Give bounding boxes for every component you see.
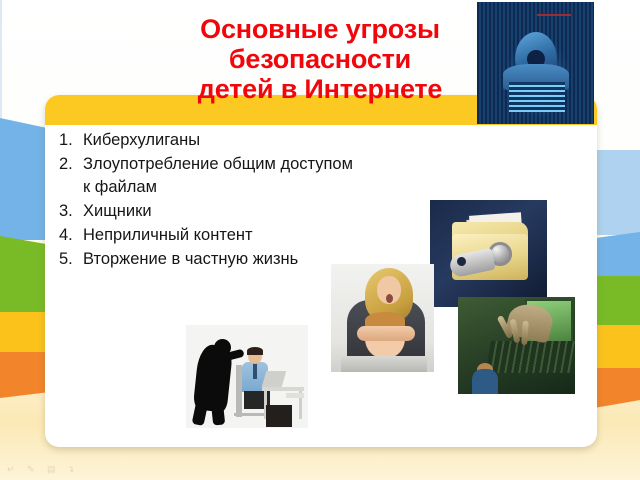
list-item-number: 5. — [59, 248, 81, 271]
office-chair-base — [234, 413, 264, 416]
locked-folder-photo — [430, 200, 547, 307]
laptop-shape — [341, 356, 427, 372]
decor-band-left-blue — [0, 118, 46, 240]
laptop-shape — [262, 371, 287, 387]
list-item-number: 3. — [59, 200, 81, 223]
decor-band-right-green — [594, 276, 640, 326]
list-item-number: 4. — [59, 224, 81, 247]
presentation-slide: Основные угрозы безопасности детей в Инт… — [0, 0, 640, 480]
list-item-label: Неприличный контент — [83, 226, 253, 244]
hacker-in-hoodie-photo — [477, 2, 594, 124]
stool-shape — [286, 393, 304, 398]
hands-covering-eyes — [357, 326, 415, 341]
child-body-shape — [472, 369, 498, 394]
footer-icon-row: ↵ ✎ ▤ ↴ — [7, 465, 78, 474]
hacker-binary-screen — [509, 82, 565, 112]
stalker-leg-silhouette — [211, 400, 225, 425]
decor-band-right-yellow — [594, 325, 640, 369]
mother-open-mouth — [386, 294, 393, 303]
decor-band-left-yellow — [0, 312, 46, 356]
slide-icon: ▤ — [47, 465, 58, 474]
arrow-icon: ↵ — [7, 465, 18, 474]
decor-band-left-orange — [0, 352, 46, 398]
seated-man-hair — [247, 347, 263, 355]
stalker-silhouette-photo — [186, 325, 308, 428]
list-item: 1. Киберхулиганы — [59, 129, 364, 152]
decor-band-right-orange — [594, 368, 640, 408]
cursor-icon: ↴ — [67, 465, 78, 474]
threat-list: 1. Киберхулиганы 2. Злоупотребление общи… — [59, 129, 364, 272]
slide-left-edge-line — [0, 0, 2, 120]
dark-box-shape — [266, 405, 292, 427]
list-item: 4. Неприличный контент — [59, 224, 364, 247]
list-item-number: 1. — [59, 129, 81, 152]
list-item: 5. Вторжение в частную жизнь — [59, 248, 364, 271]
list-item: 2. Злоупотребление общим доступом к файл… — [59, 153, 364, 199]
list-item-label: Киберхулиганы — [83, 131, 200, 149]
pencil-icon: ✎ — [27, 465, 38, 474]
decor-band-right-light-blue — [594, 150, 640, 235]
list-item: 3. Хищники — [59, 200, 364, 223]
list-item-label: Вторжение в частную жизнь — [83, 250, 298, 268]
slide-title: Основные угрозы безопасности детей в Инт… — [110, 14, 530, 104]
decor-band-left-green — [0, 236, 46, 316]
decor-band-right-blue — [594, 232, 640, 277]
desk-top-shape — [262, 387, 304, 391]
mother-covering-child-eyes-photo — [331, 264, 434, 372]
list-item-label: Злоупотребление общим доступом к файлам — [83, 155, 353, 196]
seated-man-tie — [253, 363, 257, 379]
keyboard-shape — [485, 341, 575, 373]
hacker-red-code-line — [537, 14, 571, 16]
list-item-number: 2. — [59, 153, 81, 176]
list-item-label: Хищники — [83, 202, 152, 220]
claw-hand-over-keyboard-photo — [458, 297, 575, 394]
